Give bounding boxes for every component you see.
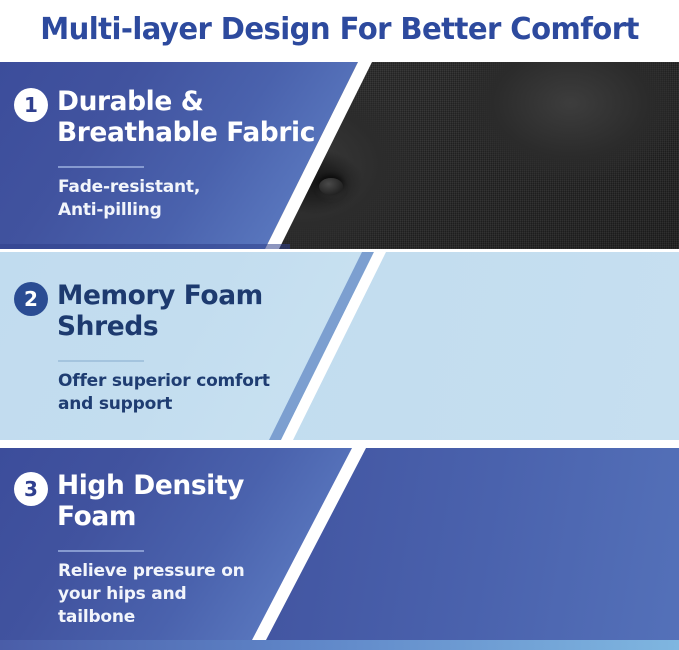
panel-3-number-badge: 3 <box>14 472 48 506</box>
page-title: Multi-layer Design For Better Comfort <box>40 12 639 47</box>
panel-3-subtext: Relieve pressure on your hips and tailbo… <box>58 560 245 629</box>
panel-3-bottom-strip <box>0 640 679 650</box>
page-title-bar: Multi-layer Design For Better Comfort <box>0 0 679 58</box>
panel-1-heading-row: 1 Durable & Breathable Fabric <box>14 86 320 149</box>
panel-1-divider <box>58 166 144 168</box>
panel-1-text-block: 1 Durable & Breathable Fabric Fade-resis… <box>14 62 344 249</box>
panel-1-subtext: Fade-resistant, Anti-pilling <box>58 176 200 222</box>
feature-panel-2: 2 Memory Foam Shreds Offer superior comf… <box>0 252 679 440</box>
panel-2-divider <box>58 360 144 362</box>
panel-1-number-badge: 1 <box>14 88 48 122</box>
panel-3-heading-row: 3 High Density Foam <box>14 470 248 533</box>
feature-panel-3: 3 High Density Foam Relieve pressure on … <box>0 448 679 650</box>
panel-2-text-block: 2 Memory Foam Shreds Offer superior comf… <box>14 252 344 440</box>
feature-panel-1: 1 Durable & Breathable Fabric Fade-resis… <box>0 62 679 249</box>
panel-3-heading: High Density Foam <box>57 470 244 533</box>
panel-3-divider <box>58 550 144 552</box>
panel-2-heading-row: 2 Memory Foam Shreds <box>14 280 267 343</box>
panel-3-text-block: 3 High Density Foam Relieve pressure on … <box>14 448 344 650</box>
panel-1-heading: Durable & Breathable Fabric <box>57 86 315 149</box>
panel-2-number-badge: 2 <box>14 282 48 316</box>
infographic-root: Multi-layer Design For Better Comfort 1 <box>0 0 679 650</box>
panel-2-subtext: Offer superior comfort and support <box>58 370 270 416</box>
panel-2-heading: Memory Foam Shreds <box>57 280 263 343</box>
